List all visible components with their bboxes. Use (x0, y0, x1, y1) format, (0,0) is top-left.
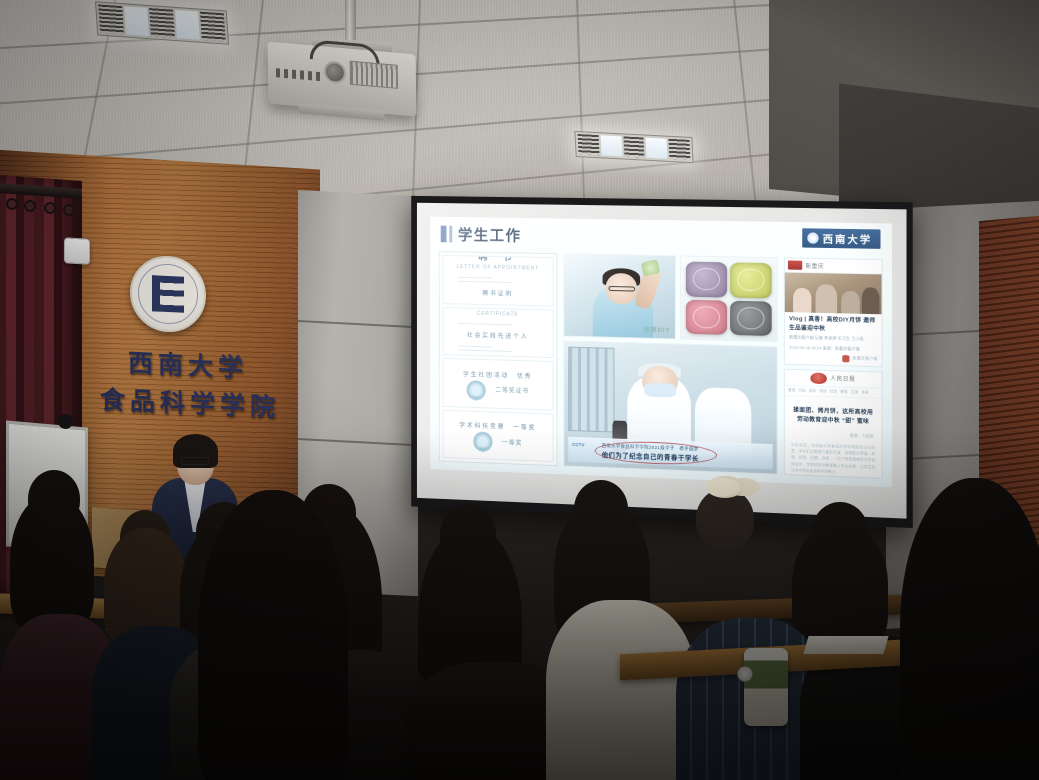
thermos-lid (737, 666, 753, 682)
news-source-name: 人民日报 (830, 374, 855, 383)
peoples-daily-logo-icon (811, 372, 827, 384)
ceiling-projector (267, 41, 416, 116)
award-seal-icon (466, 380, 485, 400)
certificate-award: 二等奖证书 (495, 385, 529, 395)
curtain-ring (44, 202, 56, 214)
nav-item: 时政 (798, 388, 805, 393)
projector-vent (350, 61, 398, 89)
wall-sign-university: 西南大学 (128, 343, 248, 384)
slide-title: 学生工作 (458, 224, 522, 246)
photo-top-row: 月饼DIY (563, 253, 778, 342)
lecture-hall-scene: 西南大学 食品科学学院 学生工作 西南大学 (0, 0, 1039, 780)
thermos-bottle (744, 648, 788, 726)
student-glasses-icon (608, 286, 635, 291)
news-card-chongqing: 新重庆 Vlog | 真香！高校DIY月饼 邀师生品鉴迎中秋 新重庆客户端 记者… (784, 257, 883, 367)
university-crest-icon (807, 232, 818, 243)
nav-item: 要闻 (788, 388, 795, 393)
book-on-desk (803, 636, 888, 654)
foreground-silhouette (198, 490, 348, 780)
audience-hair (792, 522, 888, 652)
news-logo-icon (788, 260, 802, 269)
wall-mount-knob (58, 414, 73, 429)
news-app-icon (842, 355, 849, 362)
mooncake-green (730, 262, 772, 298)
news-headline: 揉面团、烤月饼，这所高校用劳动教育迎中秋 “甜” 蜜味 (785, 396, 882, 429)
nav-item: 社会 (830, 389, 837, 394)
audience-area (0, 450, 1039, 780)
wall-seam (298, 320, 418, 328)
news-column: 新重庆 Vlog | 真香！高校DIY月饼 邀师生品鉴迎中秋 新重庆客户端 记者… (784, 257, 883, 478)
audience-hair (10, 494, 94, 634)
face-mask-icon (644, 383, 676, 398)
presentation-slide: 学生工作 西南大学 聘 书 LETTER OF APPOINTMENT (430, 217, 892, 488)
certificate-item: 学生社团活动 优秀 二等奖证书 (443, 358, 554, 410)
title-accent-bar (441, 226, 447, 243)
certificate-subtitle: CERTIFICATE (477, 311, 519, 318)
university-logo-text: 西南大学 (823, 231, 872, 247)
certificate-badge-row: 二等奖证书 (466, 378, 529, 402)
mooncake-purple (686, 262, 727, 298)
curtain-ring (6, 198, 18, 210)
certificate-rules (458, 343, 538, 356)
certificate-name: 社会实践先进个人 (467, 330, 529, 340)
certificates-column: 聘 书 LETTER OF APPOINTMENT 聘书证明 CERTI (439, 251, 557, 466)
photo-mooncake-assortment (680, 255, 778, 342)
slide-header: 学生工作 西南大学 (439, 223, 883, 256)
news-headline: Vlog | 真香！高校DIY月饼 邀师生品鉴迎中秋 (785, 312, 882, 334)
nav-item: 财经 (819, 388, 826, 393)
certificate-name: 聘书证明 (482, 288, 513, 298)
photo-student-with-mooncake: 月饼DIY (563, 253, 676, 340)
tv-channel-logo: CCTV (572, 442, 584, 447)
certificate-rules (458, 320, 538, 329)
mooncake-black (730, 300, 772, 336)
projector-ports (276, 68, 322, 81)
news-source-name: 新重庆 (805, 261, 824, 269)
certificate-award: 一等奖 (502, 437, 522, 447)
foreground-silhouette (900, 478, 1039, 780)
certificate-item: CERTIFICATE 社会实践先进个人 (443, 306, 554, 358)
curtain-ring (24, 200, 36, 212)
nav-item: 体育 (861, 390, 868, 395)
news-footer: 新重庆客户端 (785, 353, 882, 366)
slide-body: 聘 书 LETTER OF APPOINTMENT 聘书证明 CERTI (439, 251, 883, 479)
wall-seam (298, 438, 418, 446)
curtain-ring (63, 204, 75, 216)
nav-item: 文旅 (851, 389, 858, 394)
certificate-item: 聘 书 LETTER OF APPOINTMENT 聘书证明 (443, 255, 554, 306)
hair-bow (706, 476, 744, 498)
university-logo: 西南大学 (802, 228, 880, 249)
certificate-rules (458, 274, 538, 287)
photo-watermark: 月饼DIY (644, 325, 671, 335)
audience-body-cream-sweater (546, 600, 696, 780)
news-photo (785, 273, 882, 315)
title-accent-bar-secondary (449, 226, 452, 243)
certificate-rules (458, 301, 538, 306)
lab-equipment (568, 347, 614, 433)
projector-lens (324, 60, 346, 84)
certificate-title: 聘 书 (478, 255, 517, 264)
photos-column: 月饼DIY (563, 253, 778, 474)
nav-item: 国际 (809, 388, 816, 393)
nav-item: 教育 (840, 389, 847, 394)
news-app-name: 新重庆客户端 (853, 355, 878, 362)
mooncake-pink (686, 299, 727, 335)
certificate-subtitle: LETTER OF APPOINTMENT (456, 264, 539, 272)
wall-speaker-icon (64, 237, 90, 264)
